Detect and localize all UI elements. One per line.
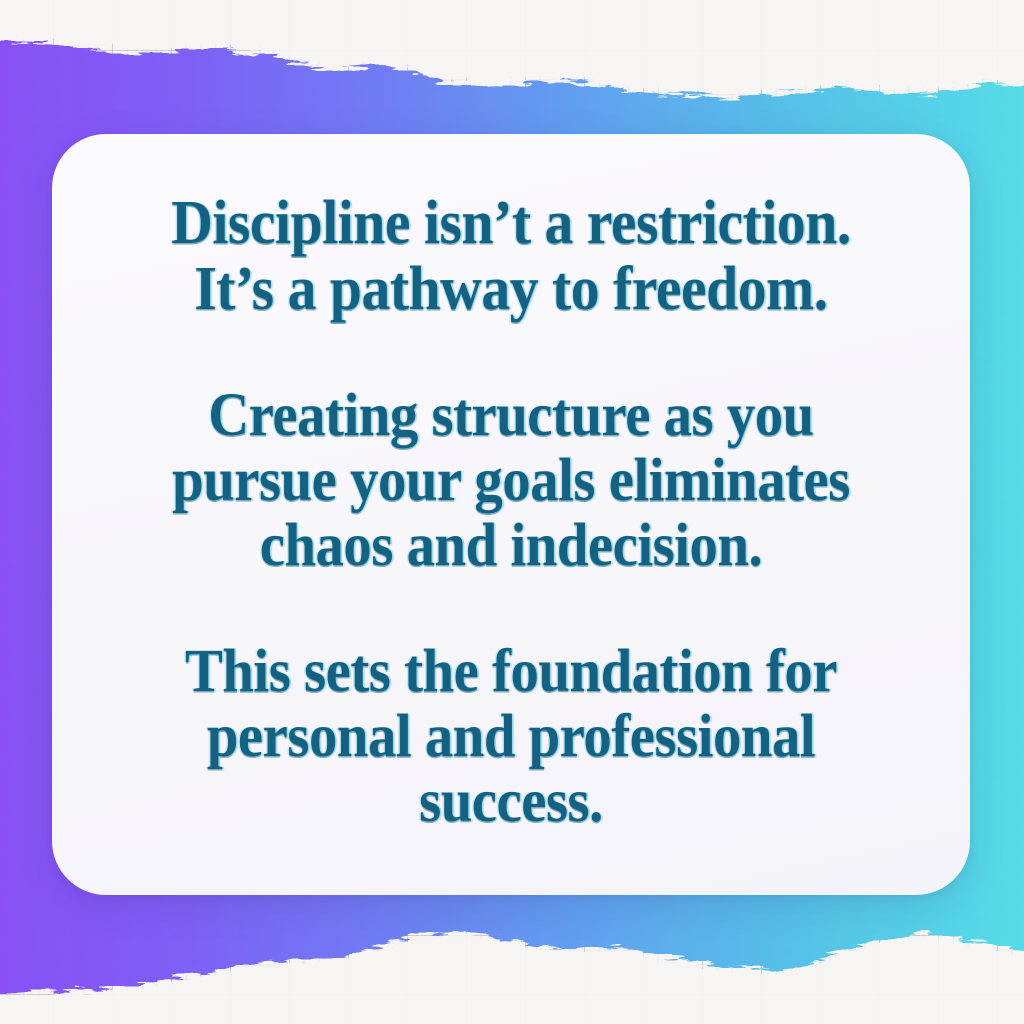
quote-paragraph-1: Discipline isn’t a restriction. It’s a p…: [112, 191, 910, 322]
quote-card: Discipline isn’t a restriction. It’s a p…: [52, 134, 970, 895]
quote-paragraph-2: Creating structure as you pursue your go…: [112, 384, 910, 578]
quote-text-block: Discipline isn’t a restriction. It’s a p…: [82, 191, 940, 834]
quote-paragraph-3: This sets the foundation for personal an…: [112, 640, 910, 834]
quote-graphic: Discipline isn’t a restriction. It’s a p…: [0, 0, 1024, 1024]
